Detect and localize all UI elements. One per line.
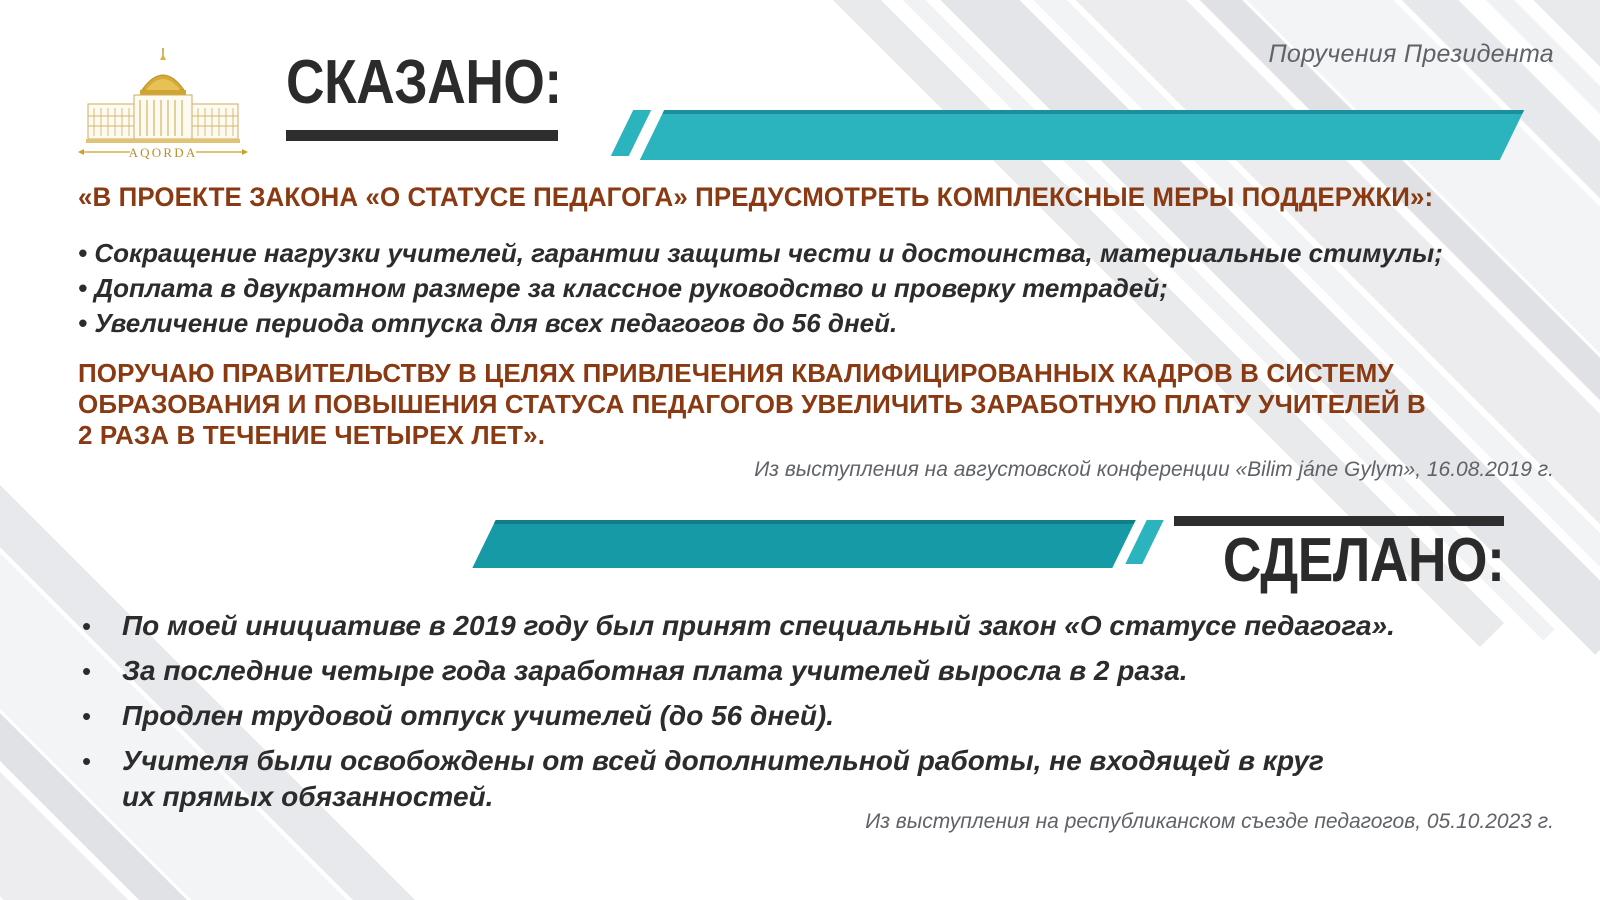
done-list-item: • По моей инициативе в 2019 году был при… xyxy=(76,608,1546,644)
said-order-line: ПОРУЧАЮ ПРАВИТЕЛЬСТВУ В ЦЕЛЯХ ПРИВЛЕЧЕНИ… xyxy=(78,358,1538,389)
said-bullet-list: • Сокращение нагрузки учителей, гарантии… xyxy=(78,236,1538,341)
done-list-item-text: За последние четыре года заработная плат… xyxy=(122,653,1188,689)
bullet-dot-icon: • xyxy=(76,698,122,734)
said-bullet-item: • Сокращение нагрузки учителей, гарантии… xyxy=(78,236,1538,271)
said-heading: «В ПРОЕКТЕ ЗАКОНА «О СТАТУСЕ ПЕДАГОГА» П… xyxy=(78,182,1470,213)
said-banner-stripe xyxy=(640,110,1524,160)
said-bullet-item: • Доплата в двукратном размере за классн… xyxy=(78,271,1538,306)
bullet-dot-icon: • xyxy=(76,653,122,689)
akorda-palace-logo: AQORDA xyxy=(72,44,254,160)
bullet-dot-icon: • xyxy=(76,743,122,779)
done-list-item: • Учителя были освобождены от всей допол… xyxy=(76,743,1546,815)
done-overline-bar xyxy=(1174,516,1504,526)
done-banner-label: СДЕЛАНО: xyxy=(1222,530,1504,592)
bullet-dot-icon: • xyxy=(76,608,122,644)
done-list-item: • За последние четыре года заработная пл… xyxy=(76,653,1546,689)
done-list-item-text: Учителя были освобождены от всей дополни… xyxy=(122,743,1324,815)
done-banner-stripe xyxy=(472,520,1135,568)
said-bullet-item: • Увеличение периода отпуска для всех пе… xyxy=(78,306,1538,341)
done-list-item-text: По моей инициативе в 2019 году был приня… xyxy=(122,608,1395,644)
said-order-paragraph: ПОРУЧАЮ ПРАВИТЕЛЬСТВУ В ЦЕЛЯХ ПРИВЛЕЧЕНИ… xyxy=(78,358,1538,451)
done-list-item: • Продлен трудовой отпуск учителей (до 5… xyxy=(76,698,1546,734)
done-source-attribution: Из выступления на республиканском съезде… xyxy=(865,810,1554,834)
done-list-item-text: Продлен трудовой отпуск учителей (до 56 … xyxy=(122,698,834,734)
done-bullet-list: • По моей инициативе в 2019 году был при… xyxy=(76,608,1546,824)
slide-kicker: Поручения Президента xyxy=(1269,40,1555,69)
said-underline-bar xyxy=(286,130,558,141)
said-order-line: ОБРАЗОВАНИЯ И ПОВЫШЕНИЯ СТАТУСА ПЕДАГОГО… xyxy=(78,389,1538,420)
presentation-slide: Поручения Президента xyxy=(0,0,1600,900)
logo-caption: AQORDA xyxy=(129,145,198,160)
said-source-attribution: Из выступления на августовской конференц… xyxy=(754,458,1554,482)
done-banner: СДЕЛАНО: xyxy=(84,512,1504,608)
said-order-line: 2 РАЗА В ТЕЧЕНИЕ ЧЕТЫРЕХ ЛЕТ». xyxy=(78,420,1538,451)
said-banner-label: СКАЗАНО: xyxy=(286,52,562,114)
